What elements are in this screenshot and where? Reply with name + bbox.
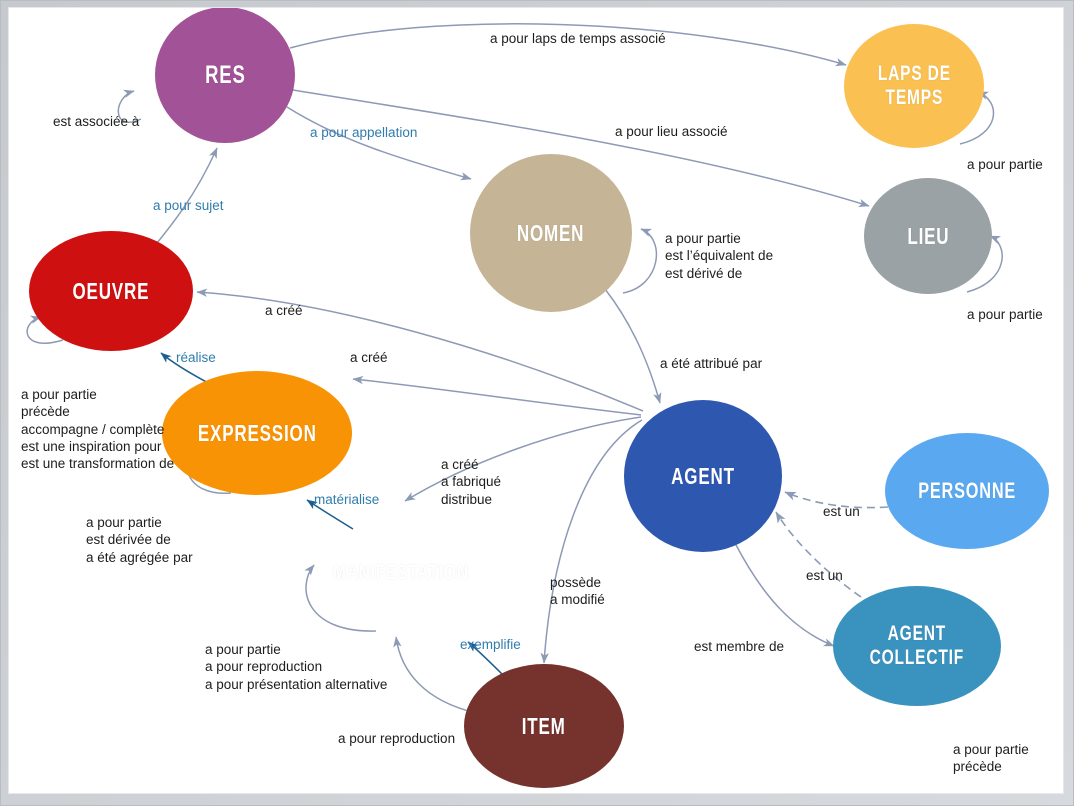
edge-label-laps-de-temps-associe: a pour laps de temps associé (490, 30, 666, 47)
edge-agent-expression (353, 379, 641, 415)
edge-label-a-cree-oeuvre: a créé (265, 302, 303, 319)
node-item-label: ITEM (522, 713, 566, 739)
node-manifestation[interactable]: MANIFESTATION (295, 511, 507, 635)
edge-label-exemplifie: exemplifie (460, 636, 521, 653)
node-manifestation-label: MANIFESTATION (333, 561, 469, 585)
edge-label-est-membre-de: est membre de (694, 638, 784, 655)
edge-label-nomen-relations: a pour partie est l’équivalent de est dé… (665, 230, 773, 282)
node-personne-label: PERSONNE (918, 478, 1016, 503)
edge-label-manif-relations: a pour partie a pour reproduction a pour… (205, 641, 387, 693)
node-nomen[interactable]: NOMEN (470, 154, 632, 312)
node-res[interactable]: RES (155, 7, 295, 143)
edge-label-a-pour-sujet: a pour sujet (153, 197, 224, 214)
diagram-canvas: RES LAPS DE TEMPS NOMEN LIEU OEUVRE EXPR… (0, 0, 1074, 806)
edge-label-a-ete-attribue-par: a été attribué par (660, 355, 762, 372)
node-oeuvre-label: OEUVRE (73, 278, 150, 304)
edge-label-lieu-a-pour-partie: a pour partie (967, 306, 1043, 323)
node-laps-de-temps-label: LAPS DE TEMPS (877, 62, 950, 110)
node-agent[interactable]: AGENT (624, 400, 782, 552)
edge-label-est-associee-a: est associée à (53, 113, 139, 130)
node-laps-de-temps[interactable]: LAPS DE TEMPS (844, 24, 984, 148)
node-lieu[interactable]: LIEU (864, 178, 992, 294)
node-res-label: RES (205, 61, 245, 90)
edge-label-a-cree-expression: a créé (350, 349, 388, 366)
edge-label-a-pour-lieu-associe: a pour lieu associé (615, 123, 728, 140)
node-nomen-label: NOMEN (517, 220, 584, 246)
edge-label-item-a-pour-reproduction: a pour reproduction (338, 730, 455, 747)
edge-label-expression-relations: a pour partie est dérivée de a été agrég… (86, 514, 193, 566)
edge-label-laps-a-pour-partie: a pour partie (967, 156, 1043, 173)
node-personne[interactable]: PERSONNE (885, 433, 1049, 549)
node-agent-label: AGENT (671, 463, 735, 489)
diagram-surface: RES LAPS DE TEMPS NOMEN LIEU OEUVRE EXPR… (8, 7, 1064, 794)
edge-label-materialise: matérialise (314, 491, 379, 508)
node-item[interactable]: ITEM (464, 664, 624, 788)
edge-agent-collectif (735, 543, 834, 646)
edge-nomen-agent (605, 289, 660, 403)
edge-label-realise: réalise (176, 349, 216, 366)
edge-label-manif-created-by: a créé a fabriqué distribue (441, 456, 501, 508)
edge-label-oeuvre-relations: a pour partie précède accompagne / compl… (21, 386, 174, 472)
node-lieu-label: LIEU (907, 223, 949, 249)
node-oeuvre[interactable]: OEUVRE (29, 231, 193, 351)
edge-label-a-pour-appellation: a pour appellation (310, 124, 417, 141)
edge-label-est-un-collectif: est un (806, 567, 843, 584)
node-expression-label: EXPRESSION (198, 420, 317, 446)
node-agent-collectif-label: AGENT COLLECTIF (870, 622, 965, 670)
edge-label-est-un-personne: est un (823, 503, 860, 520)
node-expression[interactable]: EXPRESSION (162, 371, 352, 495)
node-agent-collectif[interactable]: AGENT COLLECTIF (833, 586, 1001, 706)
edge-res-nomen (287, 107, 471, 179)
edge-label-possede-a-modifie: possède a modifié (550, 574, 605, 609)
edge-label-collectif-relations: a pour partie précède (953, 741, 1029, 776)
